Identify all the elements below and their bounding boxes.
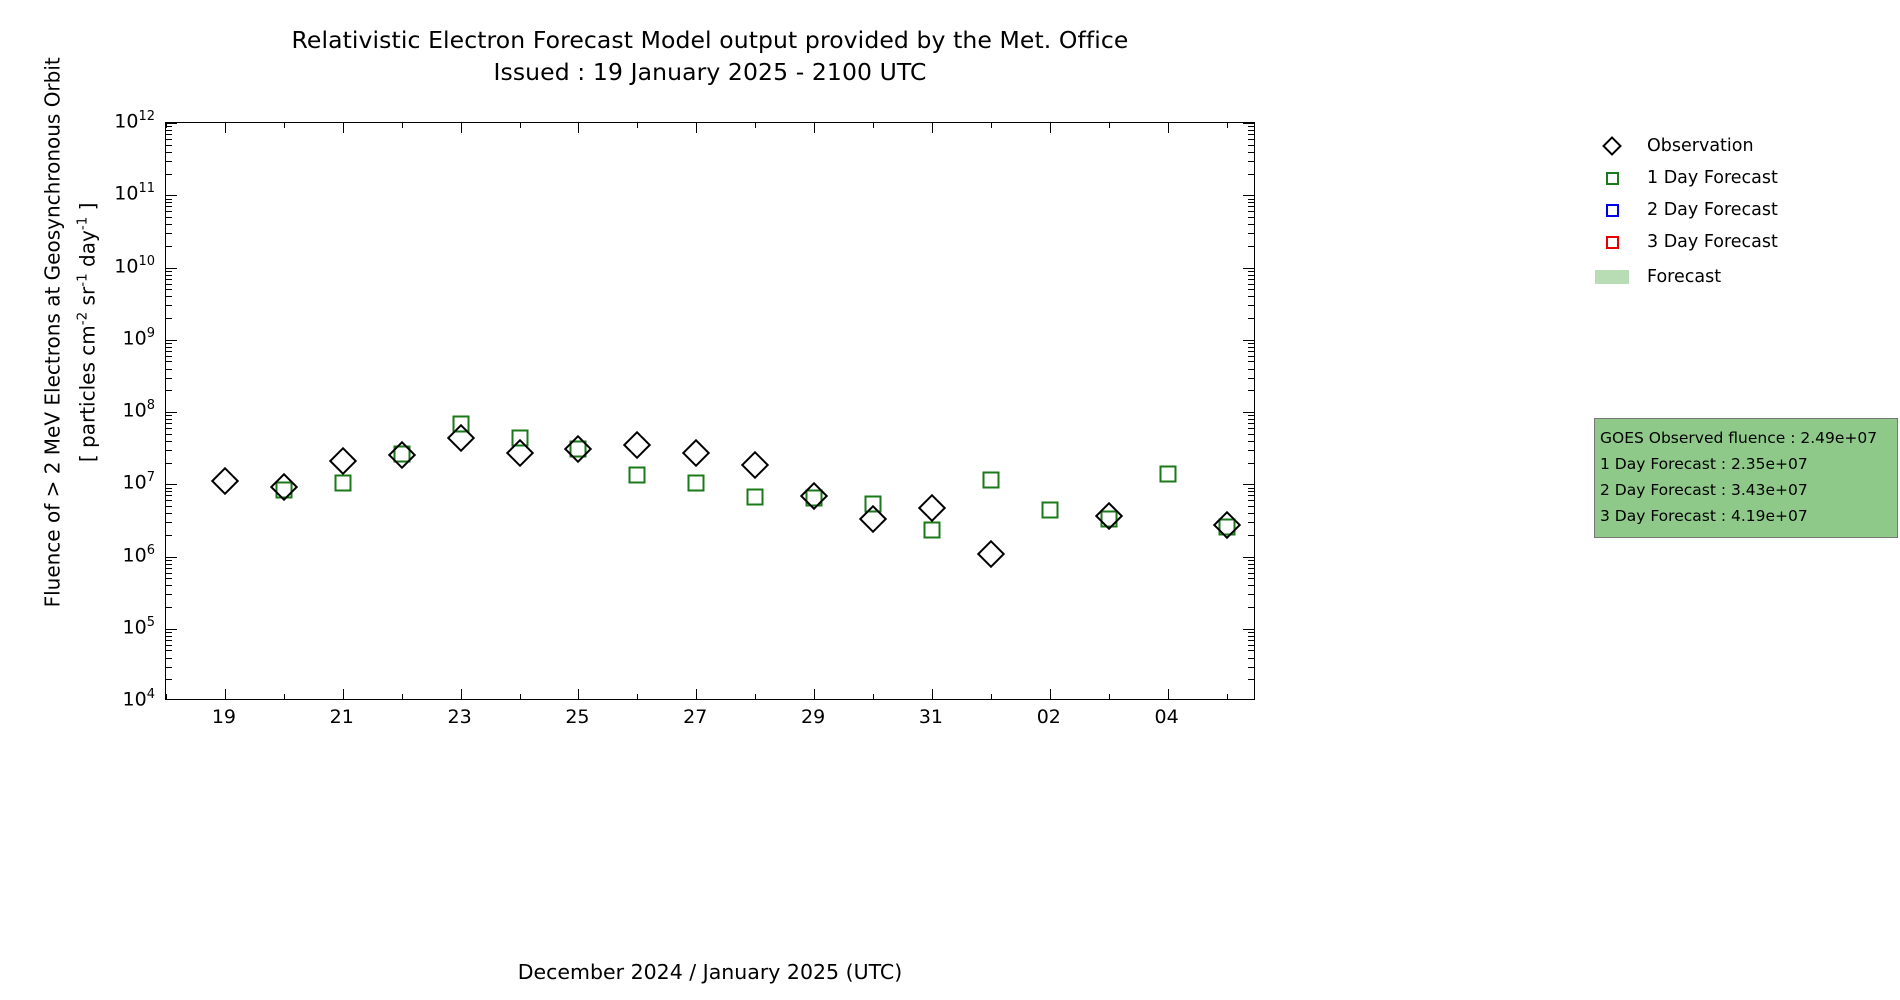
y-axis-minor-tick xyxy=(166,369,172,370)
y-axis-minor-tick xyxy=(1248,658,1254,659)
y-axis-minor-tick xyxy=(166,161,172,162)
forecast-1day-marker xyxy=(1159,465,1176,482)
legend-symbol xyxy=(1595,139,1629,153)
y-axis-minor-tick xyxy=(166,378,172,379)
y-axis-minor-tick xyxy=(1248,607,1254,608)
y-axis-minor-tick xyxy=(1248,390,1254,391)
y-axis-tick-label: 105 xyxy=(123,615,155,638)
y-axis-minor-tick xyxy=(166,585,172,586)
square-icon xyxy=(1606,236,1619,249)
observation-marker xyxy=(270,473,298,501)
y-axis-minor-tick xyxy=(1248,450,1254,451)
y-axis-minor-tick xyxy=(1248,415,1254,416)
y-axis-unit-day: day xyxy=(75,230,99,273)
x-axis-title: December 2024 / January 2025 (UTC) xyxy=(165,960,1255,984)
y-axis-minor-tick xyxy=(1248,126,1254,127)
y-axis-minor-tick xyxy=(166,275,172,276)
forecast-1day-marker xyxy=(806,489,823,506)
info-box-row: 1 Day Forecast : 2.35e+07 xyxy=(1600,451,1892,477)
y-axis-minor-tick xyxy=(1248,667,1254,668)
chart-title-block: Relativistic Electron Forecast Model out… xyxy=(0,24,1420,88)
forecast-1day-marker xyxy=(1100,511,1117,528)
y-axis-minor-tick xyxy=(1248,419,1254,420)
y-axis-minor-tick xyxy=(166,495,172,496)
x-axis-minor-tick xyxy=(402,694,403,699)
y-axis-major-tick xyxy=(1243,268,1254,269)
y-axis-minor-tick xyxy=(1248,535,1254,536)
x-axis-major-tick xyxy=(932,123,933,133)
y-axis-major-tick xyxy=(1243,557,1254,558)
y-axis-major-tick xyxy=(1243,340,1254,341)
y-axis-minor-tick xyxy=(1248,568,1254,569)
y-axis-minor-tick xyxy=(166,246,172,247)
info-box-row: 3 Day Forecast : 4.19e+07 xyxy=(1600,503,1892,529)
square-icon xyxy=(1606,204,1619,217)
x-axis-minor-tick xyxy=(991,123,992,128)
y-axis-minor-tick xyxy=(166,640,172,641)
x-axis-tick-label: 23 xyxy=(430,706,490,728)
y-axis-minor-tick xyxy=(1248,305,1254,306)
y-axis-minor-tick xyxy=(166,658,172,659)
y-axis-minor-tick xyxy=(166,318,172,319)
y-axis-minor-tick xyxy=(1248,343,1254,344)
x-axis-tick-label: 19 xyxy=(194,706,254,728)
y-axis-minor-tick xyxy=(166,667,172,668)
y-axis-minor-tick xyxy=(1248,640,1254,641)
y-axis-minor-tick xyxy=(166,632,172,633)
x-axis-minor-tick xyxy=(402,123,403,128)
observation-marker xyxy=(1095,502,1123,530)
y-axis-minor-tick xyxy=(166,217,172,218)
y-axis-minor-tick xyxy=(1248,488,1254,489)
y-axis-minor-tick xyxy=(1248,347,1254,348)
y-axis-minor-tick xyxy=(166,441,172,442)
x-axis-minor-tick xyxy=(1227,123,1228,128)
y-axis-minor-tick xyxy=(166,390,172,391)
y-axis-minor-tick xyxy=(1248,233,1254,234)
y-axis-minor-tick xyxy=(166,522,172,523)
y-axis-minor-tick xyxy=(166,224,172,225)
y-axis-major-tick xyxy=(166,340,177,341)
legend-symbol xyxy=(1595,172,1629,185)
y-axis-minor-tick xyxy=(1248,573,1254,574)
y-axis-minor-tick xyxy=(1248,202,1254,203)
y-axis-minor-tick xyxy=(1248,491,1254,492)
y-axis-minor-tick xyxy=(166,463,172,464)
y-axis-minor-tick xyxy=(1248,434,1254,435)
y-axis-minor-tick xyxy=(166,636,172,637)
y-axis-minor-tick xyxy=(1248,161,1254,162)
y-axis-minor-tick xyxy=(166,343,172,344)
x-axis-minor-tick xyxy=(873,123,874,128)
legend-item: Forecast xyxy=(1595,261,1778,293)
y-axis-minor-tick xyxy=(1248,632,1254,633)
y-axis-minor-tick xyxy=(166,139,172,140)
x-axis-minor-tick xyxy=(166,123,167,128)
y-axis-minor-tick xyxy=(166,428,172,429)
x-axis-tick-label: 29 xyxy=(783,706,843,728)
y-axis-minor-tick xyxy=(166,347,172,348)
y-axis-minor-tick xyxy=(1248,289,1254,290)
y-axis-major-tick xyxy=(1243,123,1254,124)
y-axis-major-tick xyxy=(1243,412,1254,413)
x-axis-minor-tick xyxy=(1109,694,1110,699)
x-axis-minor-tick xyxy=(755,694,756,699)
plot-area: Forecast xyxy=(165,122,1255,700)
y-axis-minor-tick xyxy=(1248,578,1254,579)
y-axis-tick-label: 1012 xyxy=(114,109,155,132)
y-axis-minor-tick xyxy=(166,573,172,574)
y-axis-minor-tick xyxy=(166,488,172,489)
y-axis-tick-label: 107 xyxy=(123,470,155,493)
x-axis-major-tick xyxy=(696,123,697,133)
y-axis-minor-tick xyxy=(1248,645,1254,646)
y-axis-minor-tick xyxy=(166,679,172,680)
y-axis-minor-tick xyxy=(1248,145,1254,146)
legend-item: Observation xyxy=(1595,130,1778,162)
y-axis-minor-tick xyxy=(1248,217,1254,218)
y-axis-minor-tick xyxy=(1248,513,1254,514)
y-axis-minor-tick xyxy=(1248,506,1254,507)
x-axis-minor-tick xyxy=(166,694,167,699)
observation-marker xyxy=(388,441,416,469)
diamond-icon xyxy=(1602,136,1622,156)
observation-marker xyxy=(329,447,357,475)
y-axis-major-tick xyxy=(166,123,177,124)
observation-marker xyxy=(623,431,651,459)
y-axis-major-tick xyxy=(1243,195,1254,196)
y-axis-tick-label: 1010 xyxy=(114,254,155,277)
y-axis-minor-tick xyxy=(166,296,172,297)
y-axis-minor-tick xyxy=(1248,585,1254,586)
y-axis-major-tick xyxy=(166,629,177,630)
y-axis-minor-tick xyxy=(1248,284,1254,285)
observation-marker xyxy=(977,539,1005,567)
y-axis-minor-tick xyxy=(166,284,172,285)
y-axis-minor-tick xyxy=(166,361,172,362)
observation-marker xyxy=(682,439,710,467)
y-axis-minor-tick xyxy=(1248,199,1254,200)
forecast-1day-marker xyxy=(570,440,587,457)
x-axis-major-tick xyxy=(578,689,579,699)
observation-marker xyxy=(211,467,239,495)
y-axis-minor-tick xyxy=(166,535,172,536)
fluence-info-box: GOES Observed fluence : 2.49e+071 Day Fo… xyxy=(1594,418,1898,538)
x-axis-major-tick xyxy=(1050,123,1051,133)
x-axis-minor-tick xyxy=(637,123,638,128)
y-axis-minor-tick xyxy=(1248,356,1254,357)
y-axis-major-tick xyxy=(166,412,177,413)
x-axis-major-tick xyxy=(932,689,933,699)
forecast-1day-marker xyxy=(511,430,528,447)
y-axis-minor-tick xyxy=(1248,564,1254,565)
y-axis-minor-tick xyxy=(1248,134,1254,135)
y-axis-minor-tick xyxy=(166,305,172,306)
x-axis-major-tick xyxy=(461,123,462,133)
x-axis-major-tick xyxy=(461,689,462,699)
observation-marker xyxy=(446,424,474,452)
y-axis-tick-label: 106 xyxy=(123,543,155,566)
x-axis-minor-tick xyxy=(755,123,756,128)
forecast-1day-marker xyxy=(1218,518,1235,535)
x-axis-minor-tick xyxy=(637,694,638,699)
y-axis-major-tick xyxy=(166,195,177,196)
y-axis-minor-tick xyxy=(166,356,172,357)
y-axis-minor-tick xyxy=(166,152,172,153)
info-box-row: 2 Day Forecast : 3.43e+07 xyxy=(1600,477,1892,503)
y-axis-minor-tick xyxy=(1248,423,1254,424)
x-axis-major-tick xyxy=(343,123,344,133)
y-axis-title: Fluence of > 2 MeV Electrons at Geosynch… xyxy=(38,0,103,712)
y-axis-minor-tick xyxy=(1248,279,1254,280)
legend-label: Forecast xyxy=(1647,267,1721,287)
y-axis-minor-tick xyxy=(166,568,172,569)
forecast-1day-marker xyxy=(275,482,292,499)
y-axis-minor-tick xyxy=(166,423,172,424)
y-axis-minor-tick xyxy=(166,506,172,507)
y-axis-minor-tick xyxy=(166,279,172,280)
y-axis-minor-tick xyxy=(166,645,172,646)
y-axis-minor-tick xyxy=(166,434,172,435)
y-axis-minor-tick xyxy=(166,560,172,561)
y-axis-minor-tick xyxy=(1248,318,1254,319)
y-axis-minor-tick xyxy=(1248,211,1254,212)
y-axis-tick-label: 109 xyxy=(123,326,155,349)
y-axis-minor-tick xyxy=(1248,463,1254,464)
observation-marker xyxy=(859,504,887,532)
y-axis-tick-label: 1011 xyxy=(114,181,155,204)
y-axis-minor-tick xyxy=(1248,224,1254,225)
y-axis-minor-tick xyxy=(166,564,172,565)
y-axis-minor-tick xyxy=(166,199,172,200)
observation-marker xyxy=(564,435,592,463)
x-axis-major-tick xyxy=(343,689,344,699)
y-axis-minor-tick xyxy=(166,233,172,234)
y-axis-minor-tick xyxy=(1248,152,1254,153)
x-axis-tick-label: 21 xyxy=(312,706,372,728)
y-axis-major-tick xyxy=(166,268,177,269)
square-icon xyxy=(1606,172,1619,185)
legend-item: 2 Day Forecast xyxy=(1595,194,1778,226)
x-axis-major-tick xyxy=(814,689,815,699)
observation-marker xyxy=(918,494,946,522)
legend-symbol xyxy=(1595,204,1629,217)
x-axis-minor-tick xyxy=(991,694,992,699)
y-axis-minor-tick xyxy=(1248,206,1254,207)
forecast-1day-marker xyxy=(452,416,469,433)
legend-item: 1 Day Forecast xyxy=(1595,162,1778,194)
y-axis-minor-tick xyxy=(166,289,172,290)
y-axis-unit-prefix: [ particles cm xyxy=(75,325,99,462)
y-axis-exp-b: -1 xyxy=(75,273,91,286)
observation-marker xyxy=(741,451,769,479)
x-axis-minor-tick xyxy=(284,123,285,128)
y-axis-minor-tick xyxy=(166,415,172,416)
x-axis-tick-label: 02 xyxy=(1019,706,1079,728)
y-axis-minor-tick xyxy=(166,174,172,175)
y-axis-minor-tick xyxy=(1248,296,1254,297)
forecast-1day-marker xyxy=(1041,502,1058,519)
x-axis-minor-tick xyxy=(520,123,521,128)
x-axis-major-tick xyxy=(225,123,226,133)
y-axis-minor-tick xyxy=(166,607,172,608)
x-axis-major-tick xyxy=(1168,123,1169,133)
y-axis-title-line-2: [ particles cm-2 sr-1 day-1 ] xyxy=(68,0,103,712)
y-axis-major-tick xyxy=(166,557,177,558)
y-axis-minor-tick xyxy=(166,419,172,420)
x-axis-major-tick xyxy=(696,689,697,699)
y-axis-minor-tick xyxy=(166,513,172,514)
legend-label: 3 Day Forecast xyxy=(1647,232,1778,252)
x-axis-minor-tick xyxy=(1227,694,1228,699)
y-axis-tick-label: 108 xyxy=(123,398,155,421)
y-axis-tick-label: 104 xyxy=(123,687,155,710)
forecast-1day-marker xyxy=(982,471,999,488)
y-axis-minor-tick xyxy=(166,130,172,131)
y-axis-minor-tick xyxy=(1248,650,1254,651)
x-axis-tick-label: 27 xyxy=(665,706,725,728)
x-axis-tick-label: 31 xyxy=(901,706,961,728)
y-axis-exp-c: -1 xyxy=(75,217,91,230)
forecast-1day-marker xyxy=(334,474,351,491)
legend-label: 1 Day Forecast xyxy=(1647,168,1778,188)
y-axis-minor-tick xyxy=(1248,378,1254,379)
y-axis-minor-tick xyxy=(1248,500,1254,501)
y-axis-minor-tick xyxy=(166,202,172,203)
y-axis-minor-tick xyxy=(1248,636,1254,637)
y-axis-minor-tick xyxy=(166,134,172,135)
observation-marker xyxy=(505,438,533,466)
y-axis-minor-tick xyxy=(166,145,172,146)
y-axis-minor-tick xyxy=(166,206,172,207)
forecast-1day-marker xyxy=(393,446,410,463)
legend-symbol xyxy=(1595,270,1629,284)
y-axis-minor-tick xyxy=(166,578,172,579)
legend-symbol xyxy=(1595,236,1629,249)
chart-legend: Observation1 Day Forecast2 Day Forecast3… xyxy=(1595,130,1778,293)
y-axis-minor-tick xyxy=(1248,139,1254,140)
y-axis-major-tick xyxy=(1243,629,1254,630)
y-axis-minor-tick xyxy=(166,491,172,492)
observation-marker xyxy=(800,482,828,510)
y-axis-minor-tick xyxy=(166,351,172,352)
y-axis-minor-tick xyxy=(1248,351,1254,352)
y-axis-minor-tick xyxy=(1248,441,1254,442)
forecast-1day-marker xyxy=(865,495,882,512)
y-axis-minor-tick xyxy=(1248,174,1254,175)
y-axis-minor-tick xyxy=(166,500,172,501)
x-axis-major-tick xyxy=(1168,689,1169,699)
y-axis-minor-tick xyxy=(166,650,172,651)
x-axis-major-tick xyxy=(1050,689,1051,699)
x-axis-minor-tick xyxy=(873,694,874,699)
x-axis-tick-label: 04 xyxy=(1137,706,1197,728)
y-axis-minor-tick xyxy=(1248,560,1254,561)
observation-marker xyxy=(1212,511,1240,539)
y-axis-minor-tick xyxy=(1248,428,1254,429)
y-axis-major-tick xyxy=(166,484,177,485)
y-axis-major-tick xyxy=(1243,484,1254,485)
y-axis-minor-tick xyxy=(166,211,172,212)
x-axis-minor-tick xyxy=(284,694,285,699)
y-axis-unit-sr: sr xyxy=(75,287,99,312)
y-axis-minor-tick xyxy=(1248,246,1254,247)
x-axis-minor-tick xyxy=(1109,123,1110,128)
title-line-2: Issued : 19 January 2025 - 2100 UTC xyxy=(0,56,1420,88)
y-axis-unit-suffix: ] xyxy=(75,203,99,217)
y-axis-minor-tick xyxy=(1248,271,1254,272)
title-line-1: Relativistic Electron Forecast Model out… xyxy=(0,24,1420,56)
y-axis-exp-a: -2 xyxy=(75,312,91,325)
y-axis-minor-tick xyxy=(166,450,172,451)
y-axis-minor-tick xyxy=(1248,495,1254,496)
y-axis-minor-tick xyxy=(1248,130,1254,131)
y-axis-minor-tick xyxy=(166,271,172,272)
x-axis-major-tick xyxy=(225,689,226,699)
x-axis-major-tick xyxy=(814,123,815,133)
y-axis-minor-tick xyxy=(166,594,172,595)
forecast-1day-marker xyxy=(747,489,764,506)
y-axis-minor-tick xyxy=(1248,522,1254,523)
y-axis-minor-tick xyxy=(1248,275,1254,276)
band-swatch-icon xyxy=(1595,270,1629,284)
x-axis-tick-label: 25 xyxy=(547,706,607,728)
forecast-1day-marker xyxy=(688,474,705,491)
y-axis-title-line-1: Fluence of > 2 MeV Electrons at Geosynch… xyxy=(38,0,68,712)
forecast-1day-marker xyxy=(923,522,940,539)
x-axis-minor-tick xyxy=(520,694,521,699)
legend-item: 3 Day Forecast xyxy=(1595,226,1778,258)
x-axis-major-tick xyxy=(578,123,579,133)
y-axis-minor-tick xyxy=(1248,361,1254,362)
legend-label: 2 Day Forecast xyxy=(1647,200,1778,220)
y-axis-minor-tick xyxy=(1248,369,1254,370)
legend-label: Observation xyxy=(1647,136,1754,156)
info-box-row: GOES Observed fluence : 2.49e+07 xyxy=(1600,425,1892,451)
forecast-1day-marker xyxy=(629,466,646,483)
y-axis-minor-tick xyxy=(1248,679,1254,680)
y-axis-minor-tick xyxy=(1248,594,1254,595)
